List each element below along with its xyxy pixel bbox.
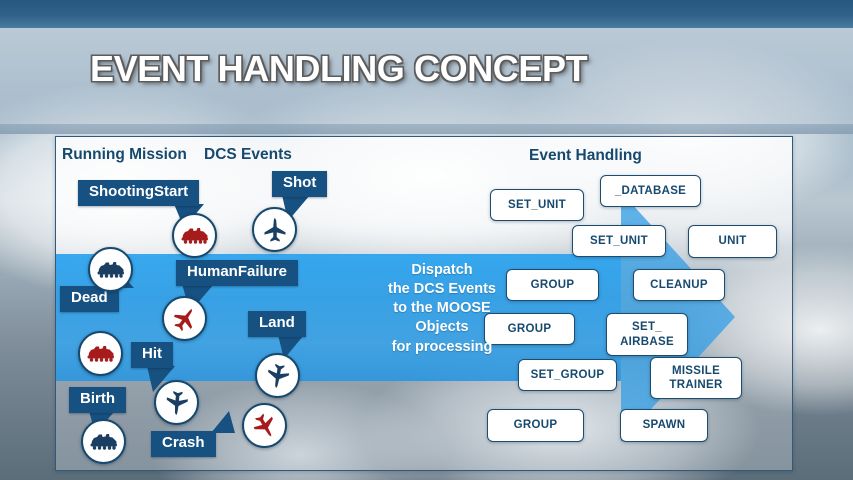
dispatch-line-1: Dispatch <box>362 261 522 280</box>
jet-navy-icon <box>261 216 289 244</box>
event-callout-hit[interactable]: Hit <box>131 342 173 368</box>
handler-box-database[interactable]: _DATABASE <box>600 175 701 207</box>
page-title: EVENT HANDLING CONCEPT <box>90 48 587 90</box>
event-label-birth: Birth <box>69 387 126 413</box>
dispatch-line-2: the DCS Events <box>362 280 522 299</box>
event-callout-land[interactable]: Land <box>248 311 306 337</box>
dispatch-line-4: Objects <box>362 318 522 337</box>
handler-box-set-unit-2[interactable]: SET_UNIT <box>572 225 666 257</box>
event-callout-crash[interactable]: Crash <box>151 431 216 457</box>
diagram-panel-inner: Dispatch the DCS Events to the MOOSE Obj… <box>56 137 792 470</box>
sky-divider-band <box>0 124 853 134</box>
event-callout-shot[interactable]: Shot <box>272 171 327 197</box>
unit-icon-tank-navy-2 <box>81 419 126 464</box>
sky-top-band <box>0 0 853 28</box>
event-label-land: Land <box>248 311 306 337</box>
jet-navy-icon <box>264 362 292 390</box>
slide-canvas: EVENT HANDLING CONCEPT Dispatch the DCS … <box>0 0 853 480</box>
event-label-crash: Crash <box>151 431 216 457</box>
unit-icon-tank-navy-1 <box>88 247 133 292</box>
unit-icon-jet-navy-1 <box>252 207 297 252</box>
header-dcs-events: DCS Events <box>204 146 292 164</box>
unit-icon-jet-red-1 <box>162 296 207 341</box>
handler-box-set-unit-1[interactable]: SET_UNIT <box>490 189 584 221</box>
unit-icon-tank-red-2 <box>78 331 123 376</box>
callout-tail <box>211 411 235 433</box>
tank-red-icon <box>180 226 210 245</box>
dispatch-line-5: for processing <box>362 338 522 357</box>
dispatch-text: Dispatch the DCS Events to the MOOSE Obj… <box>362 261 522 357</box>
jet-red-icon <box>171 305 199 333</box>
dispatch-line-3: to the MOOSE <box>362 299 522 318</box>
handler-box-missile-trainer[interactable]: MISSILE TRAINER <box>650 357 742 399</box>
handler-box-set-airbase[interactable]: SET_ AIRBASE <box>606 313 688 356</box>
tank-navy-icon <box>89 432 119 451</box>
handler-box-unit[interactable]: UNIT <box>688 225 777 258</box>
handler-box-spawn[interactable]: SPAWN <box>620 409 708 442</box>
unit-icon-jet-red-2 <box>242 403 287 448</box>
event-callout-humanfailure[interactable]: HumanFailure <box>176 260 298 286</box>
event-callout-birth[interactable]: Birth <box>69 387 126 413</box>
jet-red-icon <box>251 412 279 440</box>
event-label-shootingstart: ShootingStart <box>78 180 199 206</box>
event-callout-shootingstart[interactable]: ShootingStart <box>78 180 199 206</box>
header-running-mission: Running Mission <box>62 146 187 164</box>
unit-icon-tank-red-1 <box>172 213 217 258</box>
tank-red-icon <box>86 344 116 363</box>
unit-icon-jet-navy-2 <box>255 353 300 398</box>
jet-navy-icon <box>163 389 191 417</box>
event-label-shot: Shot <box>272 171 327 197</box>
handler-box-cleanup[interactable]: CLEANUP <box>633 269 725 301</box>
handler-box-group-3[interactable]: GROUP <box>487 409 584 442</box>
tank-navy-icon <box>96 260 126 279</box>
event-label-hit: Hit <box>131 342 173 368</box>
diagram-panel: Dispatch the DCS Events to the MOOSE Obj… <box>55 136 793 471</box>
handler-box-set-group[interactable]: SET_GROUP <box>518 359 617 391</box>
event-label-humanfailure: HumanFailure <box>176 260 298 286</box>
unit-icon-jet-navy-3 <box>154 380 199 425</box>
header-event-handling: Event Handling <box>529 147 642 165</box>
